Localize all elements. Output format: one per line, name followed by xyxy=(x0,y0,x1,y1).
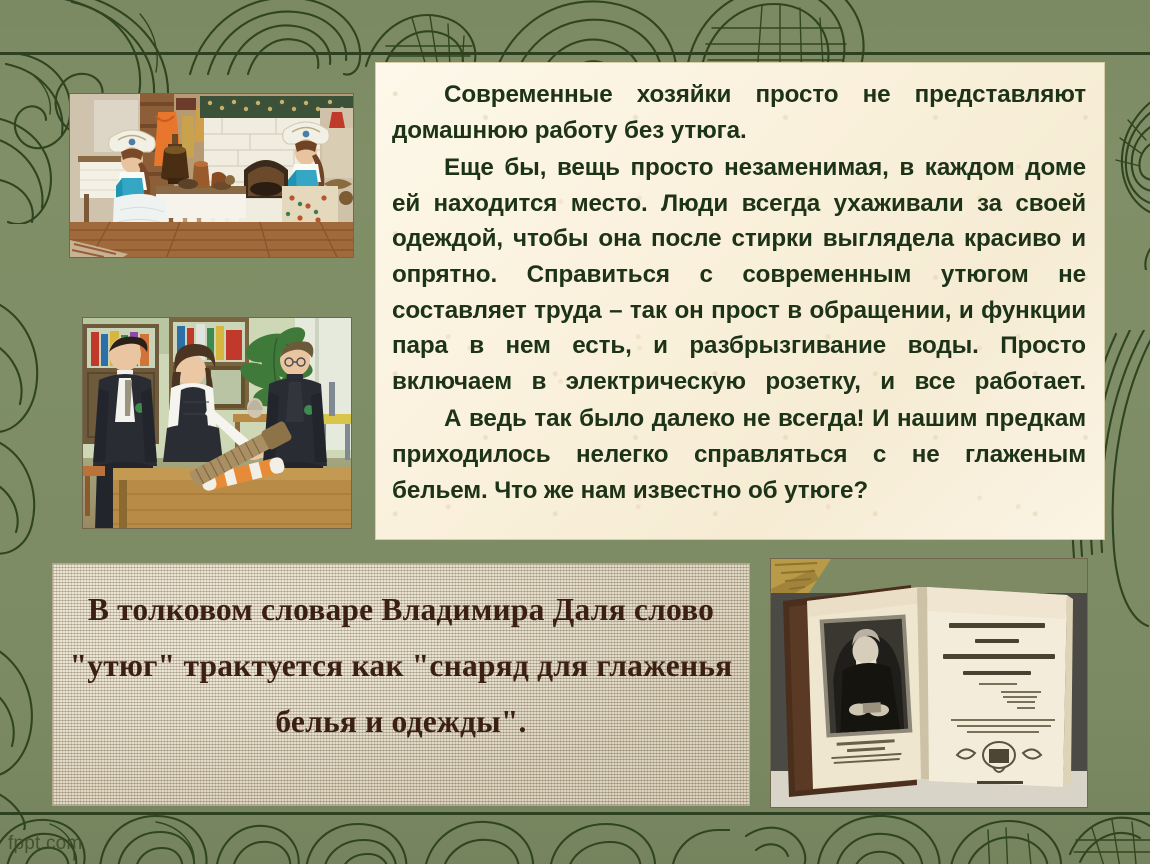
slide-canvas: Современные хозяйки просто не представля… xyxy=(0,0,1150,864)
photo-folk-scene xyxy=(70,94,353,257)
main-text-panel: Современные хозяйки просто не представля… xyxy=(375,62,1105,540)
ornament-bottom-center xyxy=(300,808,730,864)
paragraph-1: Современные хозяйки просто не представля… xyxy=(392,77,1086,148)
photo-pupils-art xyxy=(83,318,352,529)
paragraph-3: А ведь так было далеко не всегда! И наши… xyxy=(392,401,1086,508)
dahl-quote-box: В толковом словаре Владимира Даля слово … xyxy=(52,563,750,806)
dahl-quote-text: В толковом словаре Владимира Даля слово … xyxy=(67,582,735,750)
border-rule-bottom xyxy=(0,812,1150,815)
photo-dahl-dictionary xyxy=(770,558,1088,808)
photo-pupils-demonstration xyxy=(82,317,352,529)
fppt-watermark: fppt.com xyxy=(8,833,82,855)
photo-folk-art xyxy=(70,94,354,258)
ornament-left-middle xyxy=(0,300,76,560)
photo-book-art xyxy=(771,559,1088,808)
photo-book-scene xyxy=(771,559,1087,807)
border-rule-top xyxy=(0,52,1150,55)
paragraph-2: Еще бы, вещь просто незаменимая, в каждо… xyxy=(392,150,1086,399)
photo-folk-costumes xyxy=(69,93,354,258)
photo-pupils-scene xyxy=(83,318,351,528)
